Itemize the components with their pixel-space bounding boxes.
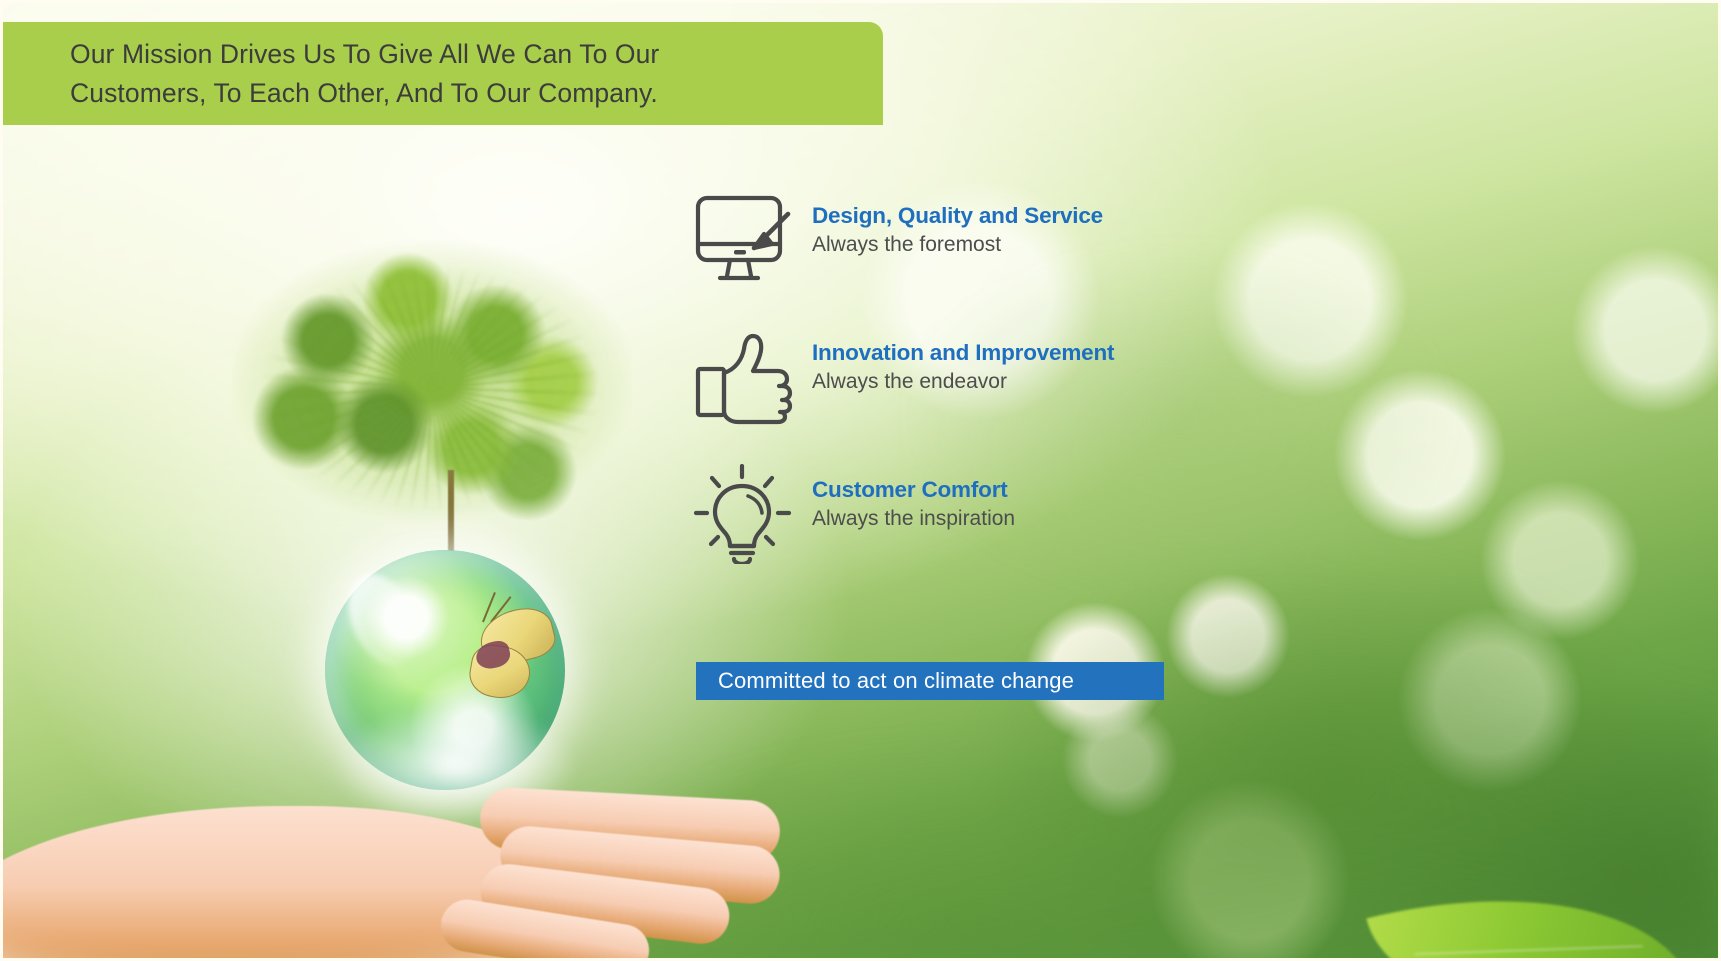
lightbulb-icon [690,464,800,564]
feature-heading: Customer Comfort [812,477,1015,503]
feature-list: Design, Quality and Service Always the f… [690,190,1290,601]
feature-item-design-quality-service: Design, Quality and Service Always the f… [690,190,1290,327]
feature-item-innovation-improvement: Innovation and Improvement Always the en… [690,327,1290,464]
feature-subtext: Always the foremost [812,233,1103,257]
thumbs-up-icon [690,327,800,427]
climate-commitment-button[interactable]: Committed to act on climate change [696,662,1164,700]
feature-text: Customer Comfort Always the inspiration [812,477,1015,531]
open-hand [0,710,760,961]
mission-statement: Our Mission Drives Us To Give All We Can… [3,35,779,112]
feature-heading: Innovation and Improvement [812,340,1114,366]
tree-leaf-detail [232,238,632,538]
feature-subtext: Always the inspiration [812,507,1015,531]
feature-item-customer-comfort: Customer Comfort Always the inspiration [690,464,1290,601]
slide-canvas: Our Mission Drives Us To Give All We Can… [0,0,1721,961]
monitor-cursor-icon [690,190,800,290]
butterfly [452,606,572,706]
feature-heading: Design, Quality and Service [812,203,1103,229]
feature-subtext: Always the endeavor [812,370,1114,394]
mission-banner: Our Mission Drives Us To Give All We Can… [3,22,883,125]
feature-text: Design, Quality and Service Always the f… [812,203,1103,257]
feature-text: Innovation and Improvement Always the en… [812,340,1114,394]
